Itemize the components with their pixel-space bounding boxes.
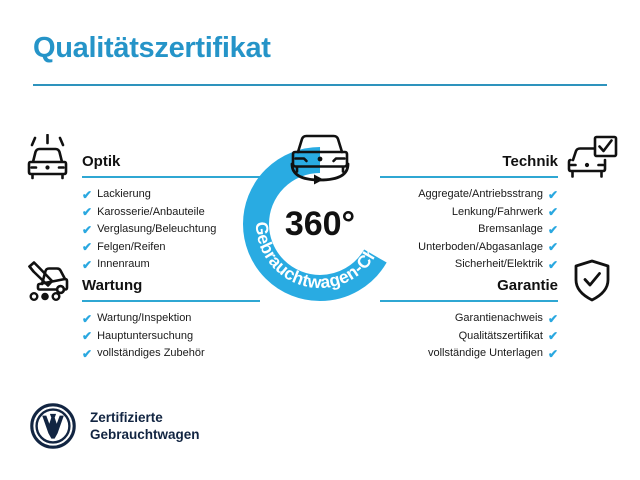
list-item: ✔vollständiges Zubehör bbox=[82, 345, 260, 363]
page-title: Qualitätszertifikat bbox=[33, 32, 271, 65]
section-technik-title: Technik bbox=[502, 153, 558, 170]
list-item: ✔Karosserie/Anbauteile bbox=[82, 204, 260, 222]
badge-center-label: 360° bbox=[285, 205, 355, 243]
check-icon: ✔ bbox=[82, 313, 92, 325]
check-icon: ✔ bbox=[82, 241, 92, 253]
car-checkbox-icon bbox=[564, 134, 620, 180]
list-item-label: vollständiges Zubehör bbox=[97, 345, 205, 363]
check-icon: ✔ bbox=[548, 206, 558, 218]
vw-certified-text: Zertifizierte Gebrauchtwagen bbox=[90, 409, 200, 443]
list-item: ✔Felgen/Reifen bbox=[82, 239, 260, 257]
list-item: Unterboden/Abgasanlage✔ bbox=[380, 239, 558, 257]
list-item-label: Wartung/Inspektion bbox=[97, 310, 191, 328]
list-item-label: Karosserie/Anbauteile bbox=[97, 204, 205, 222]
list-item-label: Aggregate/Antriebsstrang bbox=[418, 186, 543, 204]
certificate-page: Qualitätszertifikat bbox=[0, 0, 640, 480]
section-optik-header: Optik bbox=[20, 134, 260, 180]
list-item-label: Felgen/Reifen bbox=[97, 239, 166, 257]
list-item-label: Lenkung/Fahrwerk bbox=[452, 204, 543, 222]
vw-text-line1: Zertifizierte bbox=[90, 409, 200, 426]
list-item-label: Garantienachweis bbox=[455, 310, 543, 328]
section-wartung: Wartung ✔Wartung/Inspektion ✔Hauptunters… bbox=[20, 258, 260, 363]
vw-roundel-logo bbox=[30, 403, 76, 449]
vw-text-line2: Gebrauchtwagen bbox=[90, 426, 200, 443]
check-icon: ✔ bbox=[548, 224, 558, 236]
vw-certified-lockup: Zertifizierte Gebrauchtwagen bbox=[30, 403, 200, 449]
check-icon: ✔ bbox=[548, 313, 558, 325]
list-item: ✔Lackierung bbox=[82, 186, 260, 204]
check-icon: ✔ bbox=[82, 206, 92, 218]
list-item: Bremsanlage✔ bbox=[380, 221, 558, 239]
section-technik: Technik Aggregate/Antriebsstrang✔ Lenkun… bbox=[380, 134, 620, 274]
section-technik-header: Technik bbox=[380, 134, 620, 180]
shield-check-icon bbox=[564, 258, 620, 304]
check-icon: ✔ bbox=[548, 348, 558, 360]
section-technik-underline bbox=[380, 176, 558, 178]
list-item-label: Qualitätszertifikat bbox=[459, 328, 543, 346]
list-item: vollständige Unterlagen✔ bbox=[380, 345, 558, 363]
list-item: Qualitätszertifikat✔ bbox=[380, 328, 558, 346]
list-item: ✔Verglasung/Beleuchtung bbox=[82, 221, 260, 239]
list-item: Aggregate/Antriebsstrang✔ bbox=[380, 186, 558, 204]
list-item-label: Verglasung/Beleuchtung bbox=[97, 221, 216, 239]
section-wartung-underline bbox=[82, 300, 260, 302]
car-shine-icon bbox=[20, 134, 76, 180]
badge-360-gebrauchtwagen-check: Gebrauchtwagen-Check 360° bbox=[236, 118, 404, 308]
section-wartung-title: Wartung bbox=[82, 277, 142, 294]
section-optik-underline bbox=[82, 176, 260, 178]
header-divider bbox=[33, 84, 607, 86]
section-garantie-header: Garantie bbox=[380, 258, 620, 304]
section-garantie: Garantie Garantienachweis✔ Qualitätszert… bbox=[380, 258, 620, 363]
check-icon: ✔ bbox=[82, 224, 92, 236]
check-icon: ✔ bbox=[548, 189, 558, 201]
section-garantie-title: Garantie bbox=[497, 277, 558, 294]
list-item-label: Lackierung bbox=[97, 186, 151, 204]
list-item: Garantienachweis✔ bbox=[380, 310, 558, 328]
list-item-label: Hauptuntersuchung bbox=[97, 328, 193, 346]
list-item-label: Bremsanlage bbox=[478, 221, 543, 239]
list-item: Lenkung/Fahrwerk✔ bbox=[380, 204, 558, 222]
section-wartung-list: ✔Wartung/Inspektion ✔Hauptuntersuchung ✔… bbox=[82, 310, 260, 363]
check-icon: ✔ bbox=[82, 348, 92, 360]
section-garantie-underline bbox=[380, 300, 558, 302]
check-icon: ✔ bbox=[548, 330, 558, 342]
list-item: ✔Wartung/Inspektion bbox=[82, 310, 260, 328]
list-item: ✔Hauptuntersuchung bbox=[82, 328, 260, 346]
service-book-car-icon bbox=[20, 258, 76, 304]
check-icon: ✔ bbox=[82, 189, 92, 201]
list-item-label: vollständige Unterlagen bbox=[428, 345, 543, 363]
section-garantie-list: Garantienachweis✔ Qualitätszertifikat✔ v… bbox=[380, 310, 558, 363]
check-icon: ✔ bbox=[548, 241, 558, 253]
section-wartung-header: Wartung bbox=[20, 258, 260, 304]
check-icon: ✔ bbox=[82, 330, 92, 342]
section-optik: Optik ✔Lackierung ✔Karosserie/Anbauteile… bbox=[20, 134, 260, 274]
list-item-label: Unterboden/Abgasanlage bbox=[418, 239, 543, 257]
section-optik-title: Optik bbox=[82, 153, 120, 170]
